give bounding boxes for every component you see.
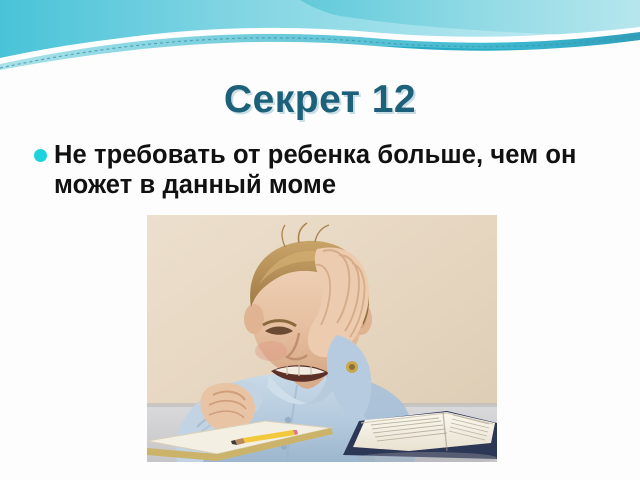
presentation-slide: Секрет 12 Не требовать от ребенка больше… [0, 0, 640, 480]
bullet-dot-icon [34, 149, 47, 162]
slide-title: Секрет 12 [0, 78, 640, 122]
body-content: Не требовать от ребенка больше, чем он м… [34, 140, 614, 200]
photo-frustrated-boy [147, 215, 497, 462]
bullet-list-item: Не требовать от ребенка больше, чем он м… [34, 140, 614, 200]
header-swoosh-decoration [0, 0, 640, 80]
bullet-item-text: Не требовать от ребенка больше, чем он м… [54, 140, 614, 200]
